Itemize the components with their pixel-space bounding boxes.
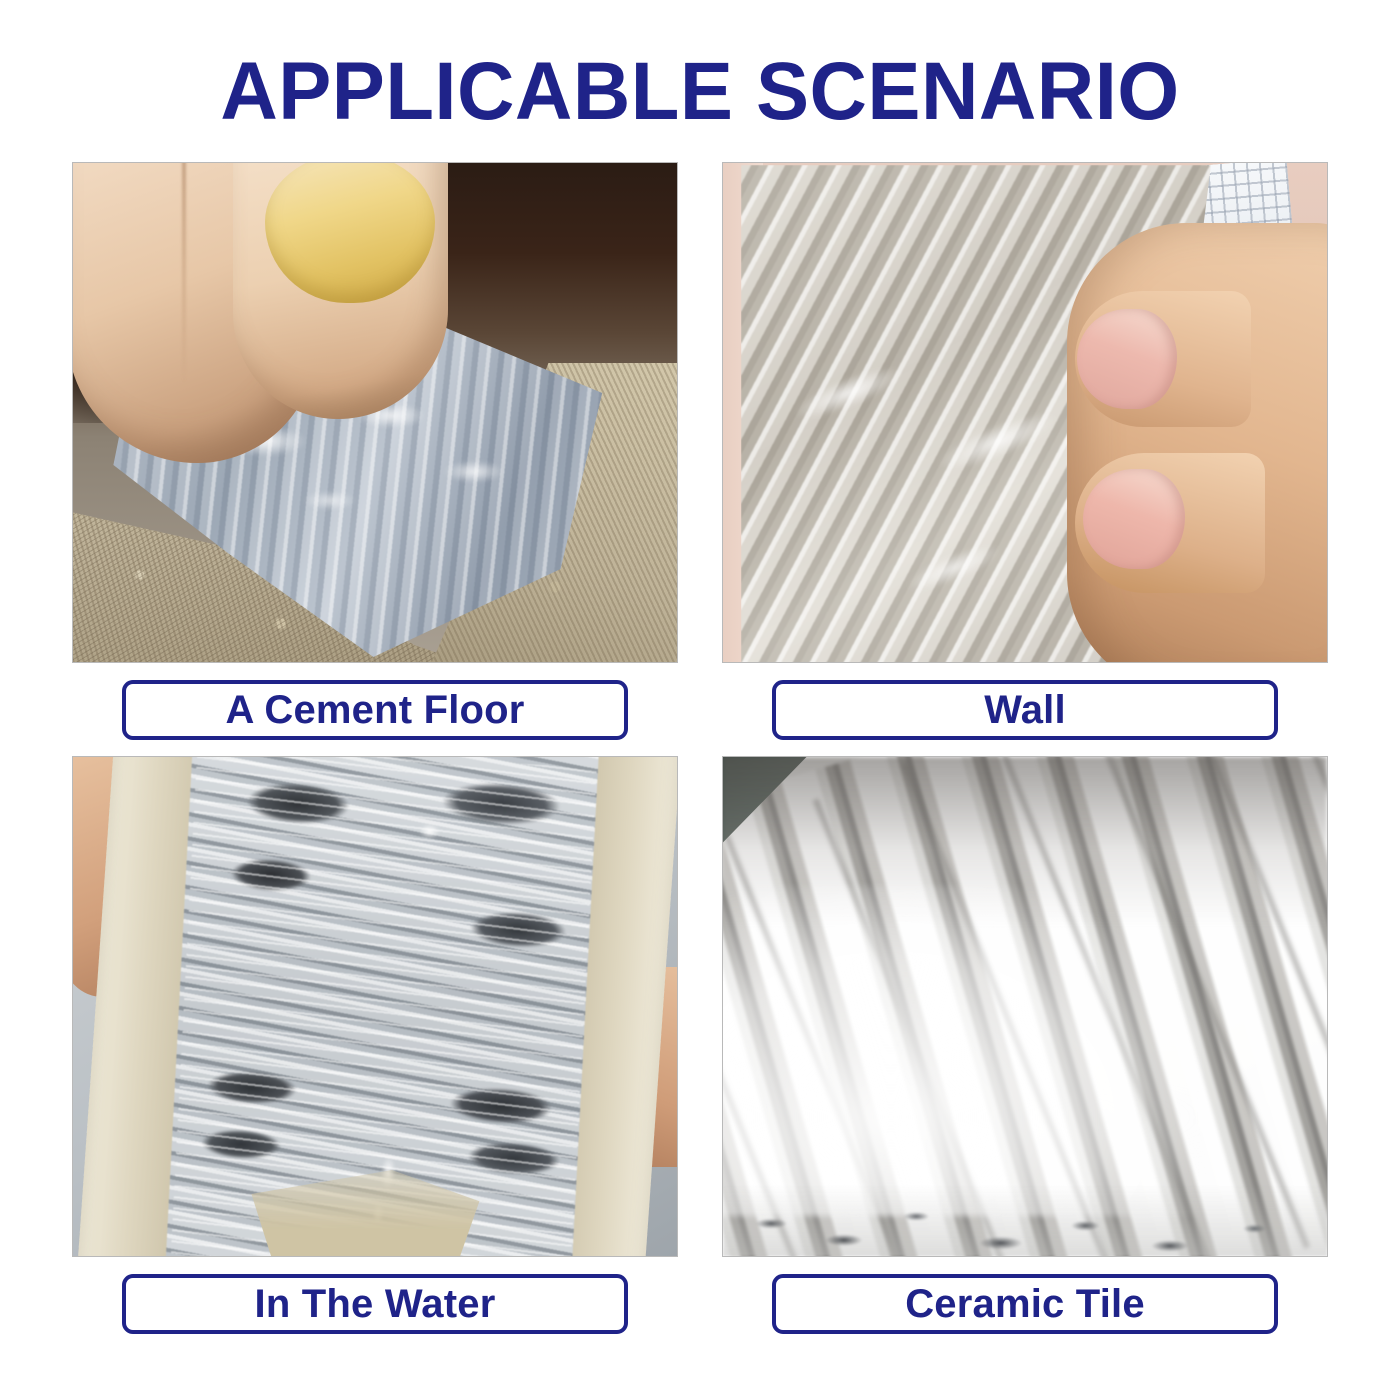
scenario-label-text: Ceramic Tile — [905, 1284, 1145, 1324]
tile-grout-grit — [723, 1184, 1327, 1256]
scenario-photo-ceramic-tile — [722, 756, 1328, 1257]
scenario-photo-in-the-water — [72, 756, 678, 1257]
scenario-grid: A Cement Floor Wall — [72, 162, 1328, 1334]
scenario-label-wall[interactable]: Wall — [772, 680, 1278, 740]
scenario-label-ceramic-tile[interactable]: Ceramic Tile — [772, 1274, 1278, 1334]
fingernail-upper — [1077, 309, 1177, 409]
hand — [1067, 223, 1327, 662]
fingernail-lower — [1083, 469, 1185, 569]
scenario-card-in-the-water[interactable]: In The Water — [72, 756, 678, 1334]
scenario-card-cement-floor[interactable]: A Cement Floor — [72, 162, 678, 740]
scenario-photo-wall — [722, 162, 1328, 663]
scenario-card-wall[interactable]: Wall — [722, 162, 1328, 740]
white-sealant-pool — [723, 886, 1203, 1216]
scenario-label-text: In The Water — [255, 1284, 496, 1324]
scenario-photo-cement-floor — [72, 162, 678, 663]
applicable-scenario-infographic: APPLICABLE SCENARIO A Cement Floor — [0, 0, 1400, 1400]
scenario-label-text: Wall — [984, 690, 1066, 730]
scenario-label-text: A Cement Floor — [225, 690, 524, 730]
scenario-label-cement-floor[interactable]: A Cement Floor — [122, 680, 628, 740]
scenario-label-in-the-water[interactable]: In The Water — [122, 1274, 628, 1334]
page-title: APPLICABLE SCENARIO — [21, 48, 1379, 136]
scenario-card-ceramic-tile[interactable]: Ceramic Tile — [722, 756, 1328, 1334]
